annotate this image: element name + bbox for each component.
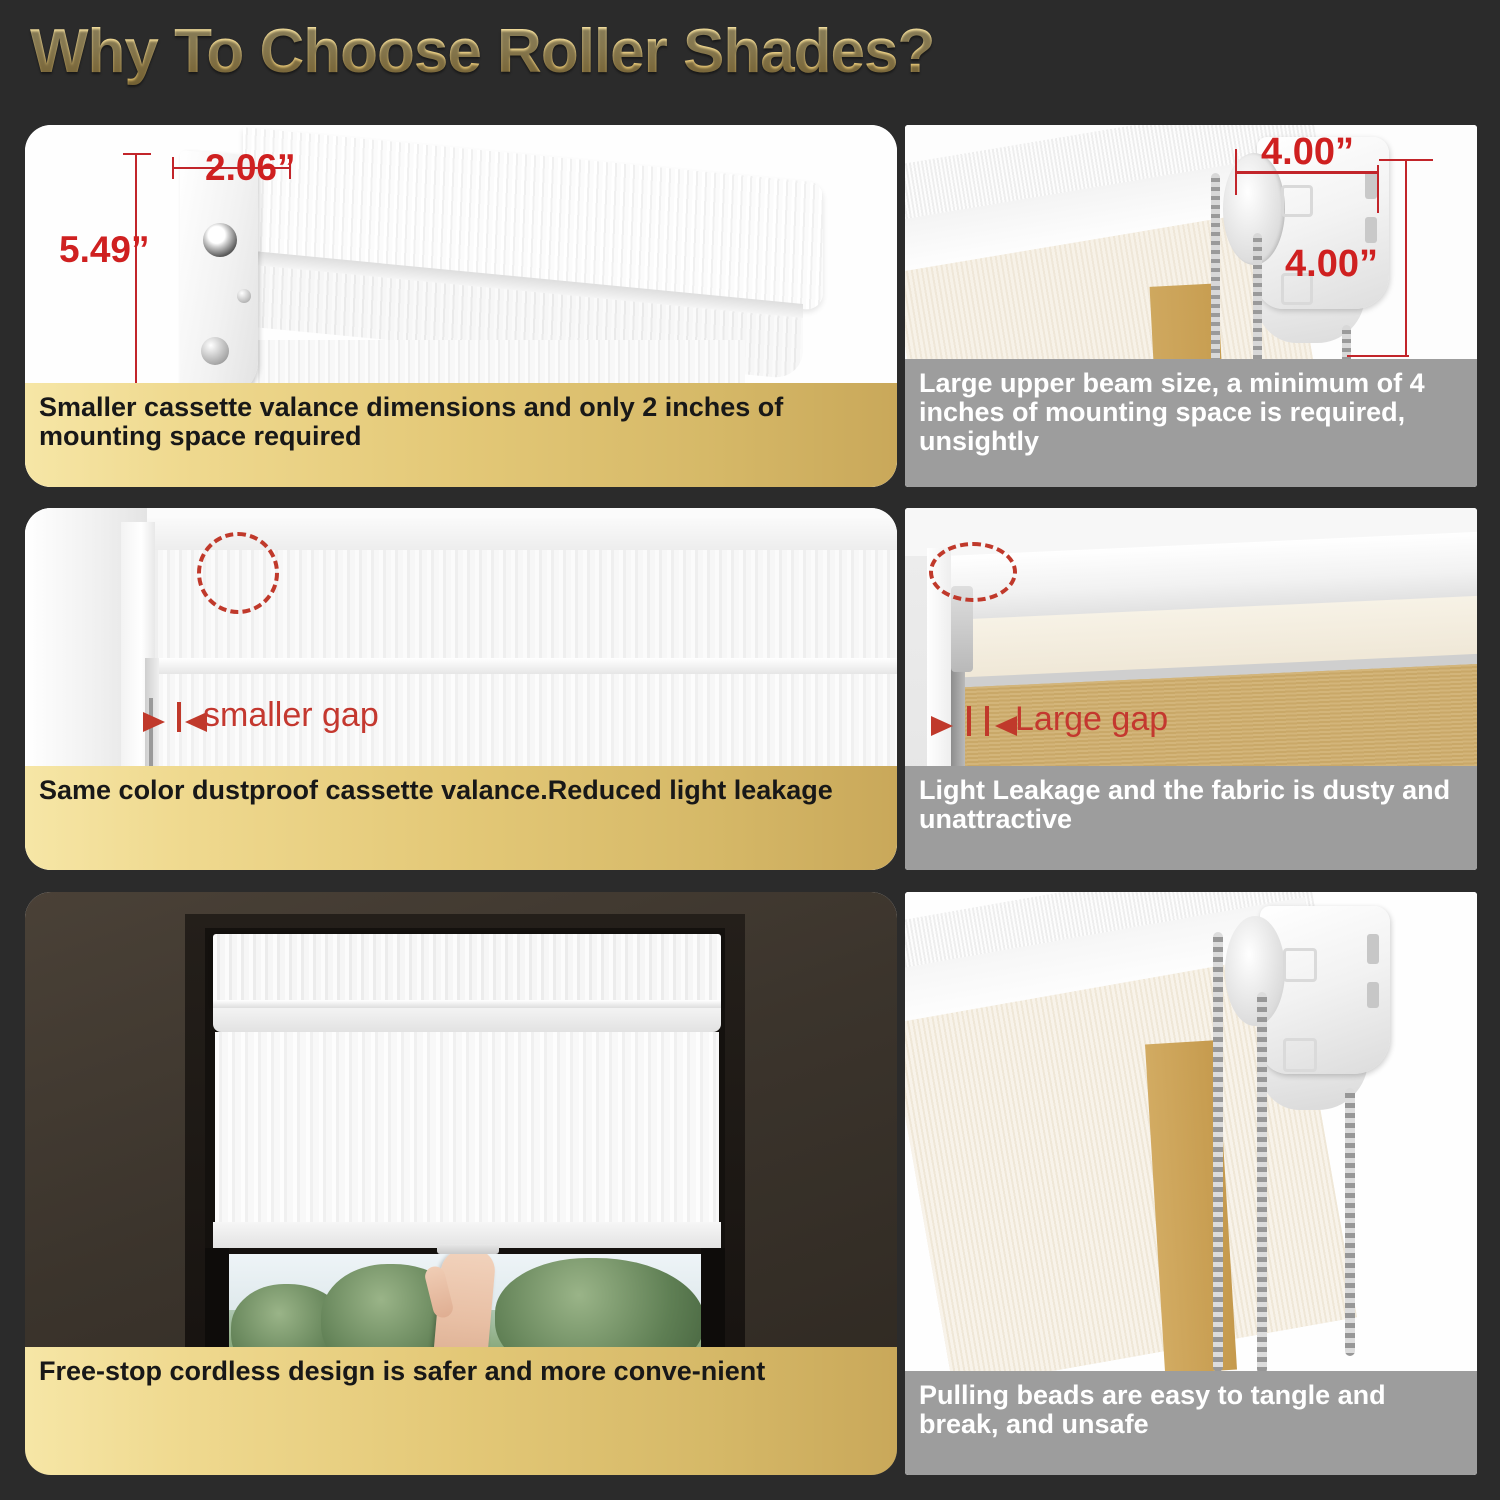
gap-label: Large gap [1015, 700, 1168, 739]
height-dimension-label: 4.00” [1285, 243, 1378, 286]
panel-caption-light-leakage: Light Leakage and the fabric is dusty an… [905, 766, 1477, 870]
shade-handle [437, 1244, 499, 1254]
panel-cordless-design: Free-stop cordless design is safer and m… [25, 892, 897, 1475]
gap-tick-icon [177, 702, 181, 732]
panel-pulling-beads: Pulling beads are easy to tangle and bre… [905, 892, 1477, 1475]
bead-chain [1213, 932, 1223, 1372]
gap-tick-icon [967, 706, 971, 736]
panel-caption-large-upper-beam: Large upper beam size, a minimum of 4 in… [905, 359, 1477, 487]
page-title: Why To Choose Roller Shades? [30, 16, 934, 87]
gap-arrow-left-icon [995, 716, 1017, 736]
gap-label: smaller gap [203, 696, 379, 735]
gap-arrow-right-icon [143, 712, 165, 732]
height-dimension-tick-top [1379, 159, 1433, 161]
bead-chain [1257, 992, 1267, 1374]
width-dimension-tick-left [172, 157, 174, 179]
panel-caption-dustproof-valance: Same color dustproof cassette valance.Re… [25, 766, 897, 870]
height-dimension-tick-top [123, 153, 151, 155]
width-dimension-label: 2.06” [205, 147, 296, 189]
highlight-circle-icon [929, 542, 1017, 602]
gap-tick-icon [985, 706, 989, 736]
panel-caption-pulling-beads: Pulling beads are easy to tangle and bre… [905, 1371, 1477, 1475]
height-dimension-tick-bottom [1347, 355, 1409, 357]
height-dimension-line [1405, 159, 1407, 357]
height-dimension-label: 5.49” [59, 229, 150, 271]
panel-caption-cordless-design: Free-stop cordless design is safer and m… [25, 1347, 897, 1475]
panel-light-leakage: Large gap Light Leakage and the fabric i… [905, 508, 1477, 870]
bead-chain [1345, 1088, 1355, 1356]
width-dimension-label: 4.00” [1261, 131, 1354, 174]
panel-smaller-cassette: 5.49” 2.06” Smaller cassette valance dim… [25, 125, 897, 487]
highlight-circle-icon [197, 532, 279, 614]
panel-caption-smaller-cassette: Smaller cassette valance dimensions and … [25, 383, 897, 487]
gap-arrow-right-icon [931, 716, 953, 736]
panel-large-upper-beam: 4.00” 4.00” Large upper beam size, a min… [905, 125, 1477, 487]
panel-dustproof-valance: smaller gap Same color dustproof cassett… [25, 508, 897, 870]
